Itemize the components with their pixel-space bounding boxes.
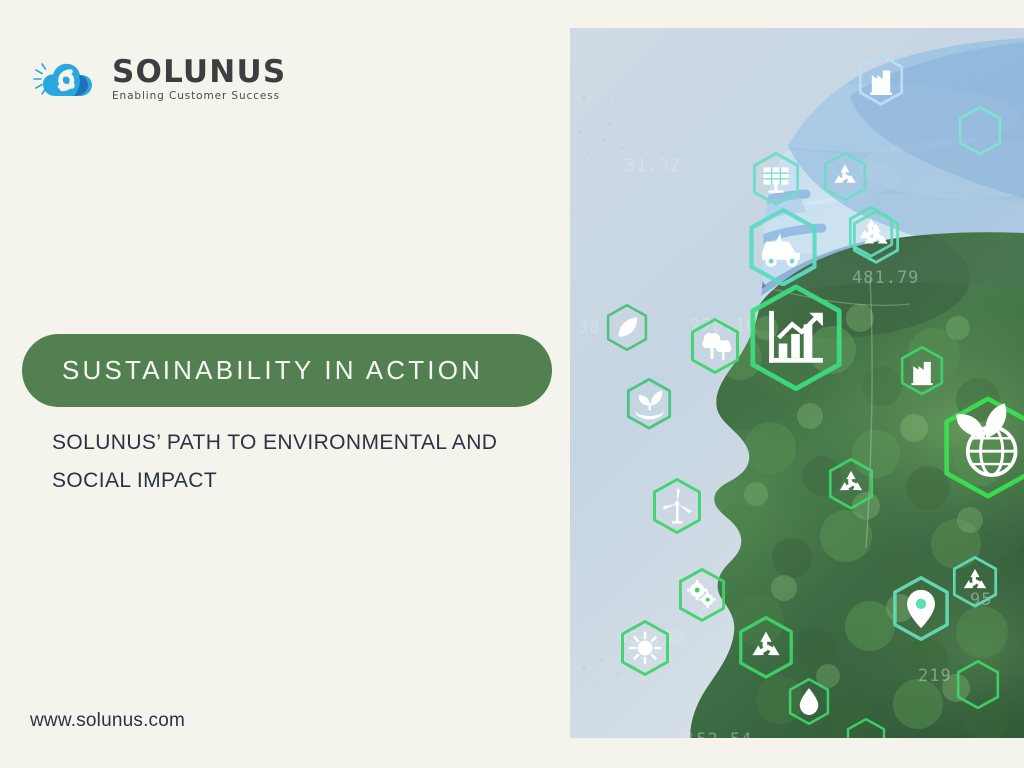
solunus-logo: SOLUNUS Enabling Customer Success xyxy=(30,55,286,103)
website-url: www.solunus.com xyxy=(30,710,185,732)
photo-scene xyxy=(570,28,1024,738)
page-title: SUSTAINABILITY IN ACTION xyxy=(22,355,483,386)
logo-tagline: Enabling Customer Success xyxy=(112,91,286,102)
title-banner: SUSTAINABILITY IN ACTION xyxy=(22,334,552,407)
logo-wordmark: SOLUNUS xyxy=(112,57,286,88)
page-subtitle: SOLUNUS’ PATH TO ENVIRONMENTAL AND SOCIA… xyxy=(52,424,522,500)
sustainability-head-silhouette-photo: 481.79 31.32 38 278.16 651.32 152.54 219… xyxy=(570,28,1024,738)
cloud-infinity-sun-icon xyxy=(30,55,102,103)
